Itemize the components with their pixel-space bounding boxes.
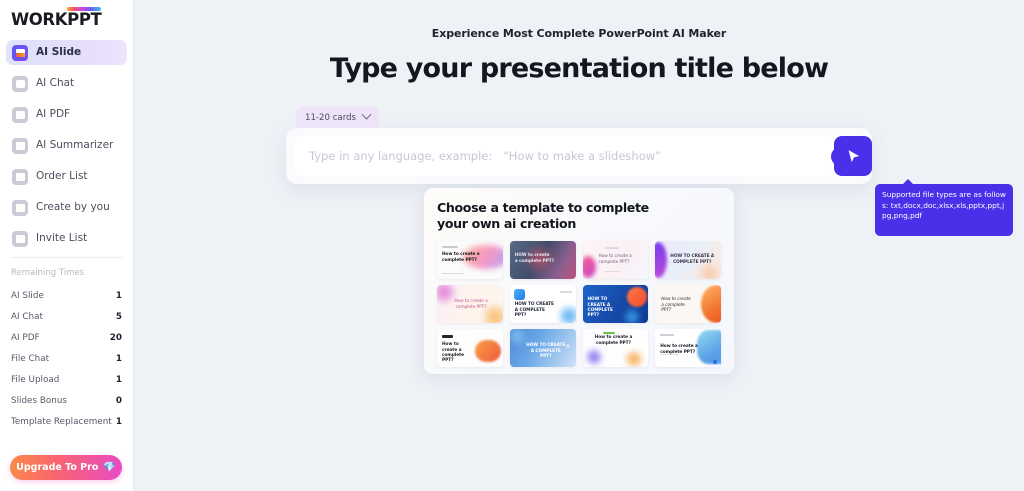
slide-icon <box>12 45 28 61</box>
brand-logo-accent: PPT <box>67 10 101 29</box>
upgrade-to-pro-button[interactable]: Upgrade To Pro 💎 <box>10 455 122 480</box>
sidebar-item-ai-chat[interactable]: AI Chat <box>6 71 127 96</box>
stat-label: Template Replacement <box>11 417 112 427</box>
template-thumbnail[interactable]: How to create a complete PPT? <box>583 241 649 279</box>
stat-row: File Upload 1 <box>0 369 133 390</box>
stat-value: 20 <box>110 333 122 343</box>
sidebar-item-ai-summarizer[interactable]: AI Summarizer <box>6 133 127 158</box>
thumbnail-text: How to create a complete PPT? <box>442 252 480 263</box>
sidebar-item-invite-list[interactable]: Invite List <box>6 226 127 251</box>
template-thumbnail[interactable]: HOW TO CREATE A COMPLETE PPT? <box>510 329 576 367</box>
prompt-composer: 11-20 cards + <box>286 107 872 184</box>
sidebar-item-ai-slide[interactable]: AI Slide <box>6 40 127 65</box>
template-thumbnail[interactable]: HOW TO CREATE A COMPLETE PPT? <box>510 285 576 323</box>
brand-logo[interactable]: WORKPPT <box>0 0 133 34</box>
stat-value: 1 <box>116 354 122 364</box>
thumbnail-text: How to create a complete PPT? <box>661 297 691 313</box>
stat-label: File Upload <box>11 375 59 385</box>
order-list-icon <box>12 169 28 185</box>
stat-value: 1 <box>116 375 122 385</box>
stat-row: Slides Bonus 0 <box>0 390 133 411</box>
thumbnail-text: HOW TO CREATE A COMPLETE PPT? <box>588 297 613 318</box>
sidebar-item-label: Order List <box>36 171 88 182</box>
upgrade-label: Upgrade To Pro <box>16 462 98 473</box>
template-thumbnail[interactable]: HOW TO CREATE A COMPLETE PPT? <box>655 241 721 279</box>
stat-row: AI Chat 5 <box>0 306 133 327</box>
stat-row: AI Slide 1 <box>0 285 133 306</box>
stat-label: AI Slide <box>11 291 44 301</box>
gem-icon: 💎 <box>103 462 115 473</box>
template-card-title: Choose a template to complete your own a… <box>437 200 721 232</box>
stat-label: AI PDF <box>11 333 40 343</box>
stat-row: AI PDF 20 <box>0 327 133 348</box>
stat-value: 5 <box>116 312 122 322</box>
template-thumbnail[interactable]: HOW to create a complete PPT? <box>510 241 576 279</box>
template-thumbnail[interactable]: How to create a complete PPT? <box>437 285 503 323</box>
thumbnail-text: How to create a complete PPT? <box>660 344 698 355</box>
generate-button[interactable] <box>834 136 872 176</box>
prompt-input[interactable] <box>295 136 835 176</box>
template-thumbnail[interactable]: HOW TO CREATE A COMPLETE PPT? <box>583 285 649 323</box>
remaining-times-title: Remaining Times <box>0 258 133 285</box>
template-thumbnail[interactable]: How to create a complete PPT? <box>655 285 721 323</box>
thumbnail-text: HOW TO CREATE A COMPLETE PPT? <box>669 254 715 265</box>
template-thumbnail[interactable]: How to create a complete PPT? <box>583 329 649 367</box>
stat-value: 0 <box>116 396 122 406</box>
sidebar-item-label: Invite List <box>36 233 87 244</box>
stat-value: 1 <box>116 417 122 427</box>
stat-label: Slides Bonus <box>11 396 67 406</box>
sidebar-item-label: AI Summarizer <box>36 140 113 151</box>
sidebar-item-label: AI PDF <box>36 109 70 120</box>
thumbnail-text: How to create a complete PPT? <box>594 335 634 346</box>
supported-file-types-tooltip: Supported file types are as follows: txt… <box>875 184 1013 236</box>
sidebar-item-order-list[interactable]: Order List <box>6 164 127 189</box>
cards-count-value: 11-20 cards <box>305 113 356 123</box>
template-thumbnail[interactable]: How to create a complete PPT? <box>437 241 503 279</box>
thumbnail-text: How to create a complete PPT? <box>442 342 464 363</box>
sidebar-item-label: Create by you <box>36 202 110 213</box>
thumbnail-text: How to create a complete PPT? <box>599 254 632 265</box>
stat-row: File Chat 1 <box>0 348 133 369</box>
summarizer-icon <box>12 138 28 154</box>
stat-label: File Chat <box>11 354 49 364</box>
thumbnail-text: HOW TO CREATE A COMPLETE PPT? <box>515 302 554 318</box>
pdf-icon <box>12 107 28 123</box>
rainbow-bar-icon <box>67 7 101 11</box>
stat-label: AI Chat <box>11 312 43 322</box>
chevron-down-icon <box>362 110 372 120</box>
cursor-arrow-icon <box>845 148 862 165</box>
template-thumbnail[interactable]: How to create a complete PPT? <box>437 329 503 367</box>
sidebar-item-label: AI Slide <box>36 47 81 58</box>
brand-logo-dark: WORK <box>11 10 67 29</box>
composer-panel: + <box>286 128 872 184</box>
main-content: Experience Most Complete PowerPoint AI M… <box>134 0 1024 491</box>
chat-icon <box>12 76 28 92</box>
template-thumbnail-grid: How to create a complete PPT? HOW to cre… <box>437 241 721 367</box>
thumbnail-text: HOW TO CREATE A COMPLETE PPT? <box>522 343 570 359</box>
cards-count-selector[interactable]: 11-20 cards <box>296 107 379 128</box>
template-preview-card[interactable]: Choose a template to complete your own a… <box>424 188 734 374</box>
stat-value: 1 <box>116 291 122 301</box>
thumbnail-text: How to create a complete PPT? <box>449 299 493 310</box>
sidebar-nav: AI Slide AI Chat AI PDF AI Summarizer Or… <box>0 40 133 251</box>
page-title: Type your presentation title below <box>330 53 828 84</box>
sidebar-item-label: AI Chat <box>36 78 74 89</box>
stat-row: Template Replacement 1 <box>0 411 133 432</box>
sidebar: WORKPPT AI Slide AI Chat AI PDF AI Summa… <box>0 0 134 491</box>
app-root: WORKPPT AI Slide AI Chat AI PDF AI Summa… <box>0 0 1024 491</box>
page-eyebrow: Experience Most Complete PowerPoint AI M… <box>432 27 726 40</box>
remaining-times-list: AI Slide 1 AI Chat 5 AI PDF 20 File Chat… <box>0 285 133 432</box>
thumbnail-text: HOW to create a complete PPT? <box>515 253 554 264</box>
sidebar-item-ai-pdf[interactable]: AI PDF <box>6 102 127 127</box>
plus-square-icon <box>12 200 28 216</box>
sidebar-item-create-by-you[interactable]: Create by you <box>6 195 127 220</box>
template-thumbnail[interactable]: How to create a complete PPT? <box>655 329 721 367</box>
invite-icon <box>12 231 28 247</box>
